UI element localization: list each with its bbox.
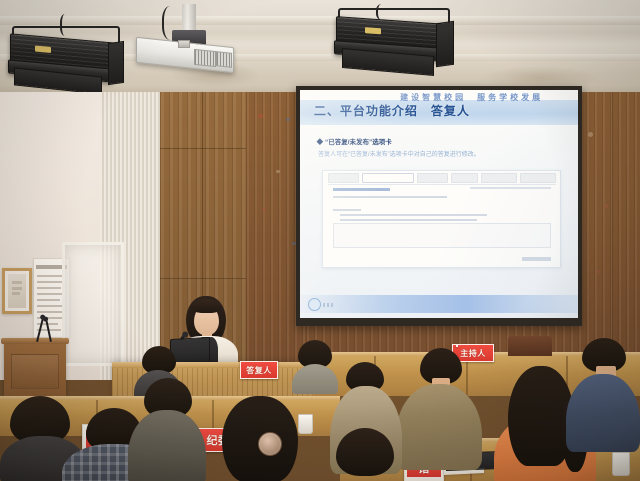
screenshot-right-meta (470, 187, 551, 189)
screenshot-edit-box (333, 223, 551, 248)
slide-logo (308, 297, 333, 313)
audience-grey-jacket (128, 378, 206, 481)
notice-line (37, 299, 60, 301)
audience-olive-shirt (396, 348, 482, 468)
screenshot-tab-5 (520, 173, 556, 184)
slide-footer-band (300, 295, 578, 313)
screenshot-tab-3 (451, 173, 478, 184)
placard-speaker-text: 答复人 (246, 365, 272, 376)
stage-light-right (330, 4, 452, 78)
screenshot-heading (333, 188, 390, 191)
audience-navy-shirt (566, 338, 640, 448)
conference-room-photo: 二、平台功能介绍 答复人 ◆ “已答复/未发布”选项卡 答复人可在“已答复/未发… (0, 0, 640, 481)
slide-bullet: ◆ “已答复/未发布”选项卡 (317, 136, 392, 146)
notice-line (37, 275, 63, 277)
notice-line (37, 281, 65, 283)
microphone-head (43, 316, 49, 322)
podium-front-panel (11, 354, 58, 389)
hair-clip (258, 432, 282, 456)
screenshot-body-line (340, 214, 487, 216)
projector-vent (216, 51, 232, 68)
picture-inner (8, 274, 26, 308)
barn-door-side (436, 21, 454, 68)
notice-line (37, 287, 62, 289)
logo-wordmark (323, 303, 333, 307)
screenshot-body-line (340, 219, 478, 221)
logo-circle-icon (308, 298, 321, 311)
wall-mark (276, 170, 280, 173)
audience-hair (336, 428, 394, 476)
wood-seam (160, 148, 246, 149)
slide-screenshot (322, 170, 561, 268)
wood-seam (612, 92, 613, 380)
slide-subtitle: 答复人可在“已答复/未发布”选项卡中对自己的答复进行修改。 (318, 149, 480, 158)
ceiling-projector (132, 4, 242, 78)
picture-detail (12, 292, 20, 295)
picture-detail (12, 287, 23, 290)
screenshot-body-line (333, 209, 361, 211)
chair-back (508, 336, 552, 356)
screenshot-tab-4 (481, 173, 517, 184)
wall-mark (604, 204, 608, 208)
notice-line (37, 305, 65, 307)
screenshot-meta-line (333, 196, 447, 198)
wall-mark (286, 118, 290, 121)
wood-seam (160, 278, 246, 279)
audience-body (128, 410, 206, 481)
audience-hairclip-woman (214, 396, 306, 481)
notice-line (37, 293, 64, 295)
audience-body (396, 384, 482, 470)
screenshot-tab-0 (328, 173, 359, 184)
screenshot-tab-1-active (362, 173, 414, 184)
wall-mark (588, 132, 593, 137)
desk-cup (612, 452, 630, 476)
screenshot-tab-row (328, 174, 556, 183)
notice-line (37, 311, 62, 313)
picture-detail (12, 281, 23, 284)
projector-screw (178, 40, 190, 48)
light-label (35, 46, 51, 53)
presentation-slide: 二、平台功能介绍 答复人 ◆ “已答复/未发布”选项卡 答复人可在“已答复/未发… (300, 90, 578, 318)
placard-spacer (456, 345, 458, 347)
podium-top (1, 338, 69, 344)
light-label (365, 27, 381, 34)
audience-front-right-1 (330, 428, 404, 481)
wall-mark (596, 270, 600, 273)
projector-vent (194, 49, 216, 67)
window (62, 242, 124, 366)
slide-title: 二、平台功能介绍 答复人 (314, 102, 470, 119)
wall-mark (258, 114, 263, 118)
projection-screen-frame: 二、平台功能介绍 答复人 ◆ “已答复/未发布”选项卡 答复人可在“已答复/未发… (296, 86, 582, 326)
stage-light-left (4, 14, 122, 88)
placard-speaker: 答复人 (240, 361, 278, 379)
slide-footer-text: 建设智慧校园 服务学校发展 (400, 92, 543, 103)
presenter-fringe (191, 299, 222, 313)
screenshot-tab-2 (417, 173, 448, 184)
screenshot-save-button (522, 257, 550, 261)
barn-door-side (108, 41, 124, 85)
screenshot-divider (328, 184, 556, 185)
audience-body (566, 374, 640, 452)
framed-picture (2, 268, 32, 314)
wall-mark (262, 208, 266, 211)
projection-screen: 二、平台功能介绍 答复人 ◆ “已答复/未发布”选项卡 答复人可在“已答复/未发… (300, 90, 578, 318)
